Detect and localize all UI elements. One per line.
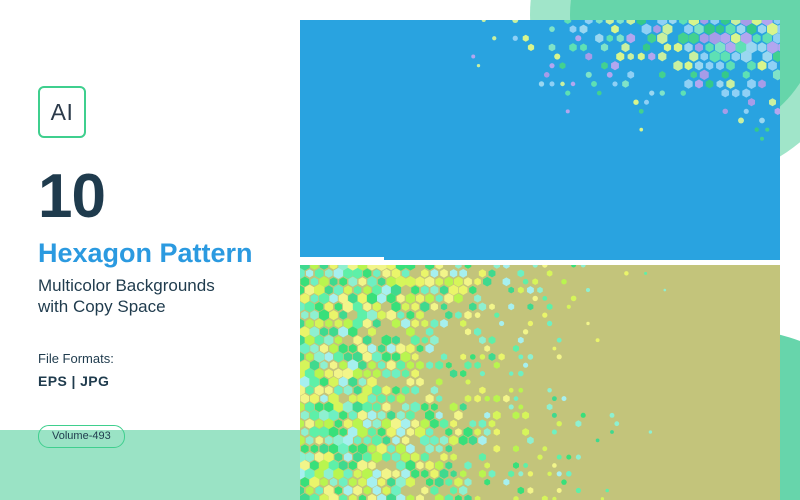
ai-format-badge: AI bbox=[38, 86, 86, 138]
preview-thumbnail-top[interactable] bbox=[300, 20, 780, 260]
volume-badge: Volume-493 bbox=[38, 425, 125, 448]
preview-canvas: AI 10 Hexagon Pattern Multicolor Backgro… bbox=[0, 0, 800, 500]
hexagon-pattern-top bbox=[300, 20, 780, 260]
page-subtitle-line1: Multicolor Backgrounds bbox=[38, 275, 288, 296]
file-formats-value: EPS | JPG bbox=[38, 373, 288, 389]
preview-thumbnail-bottom[interactable] bbox=[300, 265, 780, 500]
page-subtitle-line2: with Copy Space bbox=[38, 296, 288, 317]
info-column: AI 10 Hexagon Pattern Multicolor Backgro… bbox=[38, 86, 288, 448]
item-count: 10 bbox=[38, 166, 288, 228]
file-formats-label: File Formats: bbox=[38, 351, 288, 366]
ai-format-badge-label: AI bbox=[51, 99, 74, 126]
page-title: Hexagon Pattern bbox=[38, 238, 288, 269]
hexagon-pattern-bottom bbox=[300, 265, 780, 500]
